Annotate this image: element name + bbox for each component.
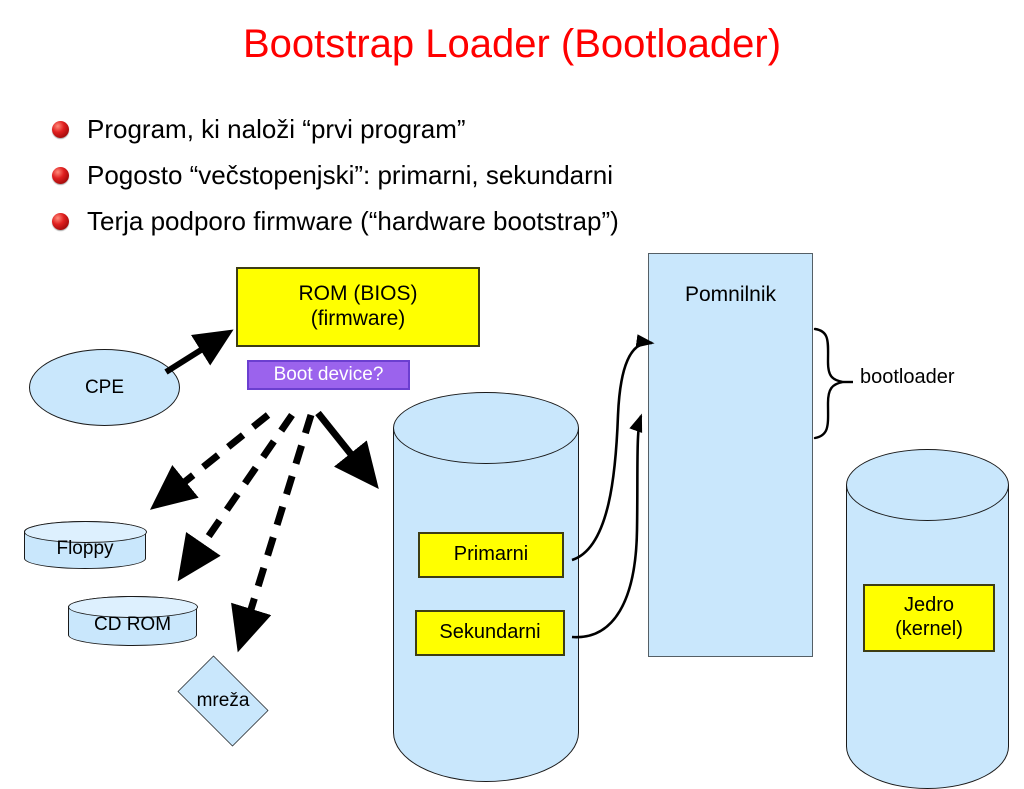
- cylinder-top: [393, 392, 579, 464]
- jedro-kernel-node: Jedro (kernel): [863, 584, 995, 652]
- pomnilnik-label: Pomnilnik: [648, 283, 813, 307]
- cylinder-body: [393, 428, 579, 782]
- list-item-label: Terja podporo firmware (“hardware bootst…: [87, 206, 619, 236]
- arrow-bootdevice-to-cdrom: [182, 415, 292, 575]
- primarni-node: Primarni: [418, 532, 564, 578]
- floppy-node: Floppy: [24, 521, 146, 569]
- pomnilnik-node: [648, 253, 813, 657]
- red-sphere-bullet-icon: [52, 213, 69, 230]
- arrow-primarni-to-pomnilnik: [572, 343, 652, 560]
- bootloader-brace-label: bootloader: [860, 366, 955, 389]
- list-item: Terja podporo firmware (“hardware bootst…: [52, 198, 932, 244]
- bullet-list: Program, ki naloži “prvi program” Pogost…: [52, 106, 932, 244]
- cpe-node: CPE: [29, 349, 180, 426]
- red-sphere-bullet-icon: [52, 121, 69, 138]
- list-item: Program, ki naloži “prvi program”: [52, 106, 932, 152]
- rom-bios-node: ROM (BIOS) (firmware): [236, 267, 480, 347]
- arrow-sekundarni-to-pomnilnik: [572, 416, 641, 637]
- arrow-cpe-to-rom: [166, 333, 228, 372]
- cdrom-label: CD ROM: [94, 614, 171, 636]
- mreza-node: mreža: [168, 665, 278, 737]
- boot-device-node: Boot device?: [247, 360, 410, 390]
- floppy-label: Floppy: [56, 538, 113, 560]
- list-item-label: Pogosto “večstopenjski”: primarni, sekun…: [87, 160, 613, 190]
- list-item-label: Program, ki naloži “prvi program”: [87, 114, 466, 144]
- arrow-bootdevice-to-storage: [318, 413, 374, 483]
- red-sphere-bullet-icon: [52, 167, 69, 184]
- mreza-label: mreža: [168, 665, 278, 737]
- sekundarni-node: Sekundarni: [415, 610, 565, 656]
- cpe-label: CPE: [85, 377, 124, 399]
- arrow-bootdevice-to-mreza: [240, 415, 311, 645]
- boot-device-label: Boot device?: [274, 364, 384, 386]
- cylinder-top: [846, 449, 1009, 521]
- page-title: Bootstrap Loader (Bootloader): [0, 22, 1024, 67]
- arrow-bootdevice-to-floppy: [156, 415, 268, 505]
- boot-storage-cylinder: [393, 392, 579, 782]
- cdrom-node: CD ROM: [68, 596, 197, 646]
- bootloader-brace: [815, 329, 843, 438]
- list-item: Pogosto “večstopenjski”: primarni, sekun…: [52, 152, 932, 198]
